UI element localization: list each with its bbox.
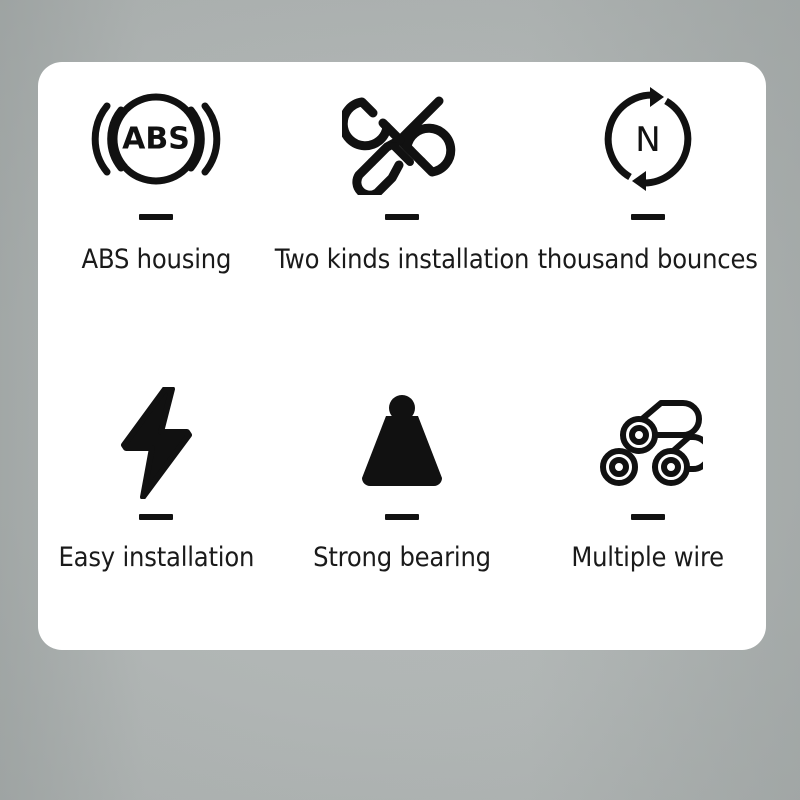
divider-dash: [385, 214, 419, 220]
divider-dash: [631, 214, 665, 220]
divider-dash: [139, 514, 173, 520]
feature-multiple-wire[interactable]: Multiple wire: [529, 356, 766, 650]
abs-icon-text: ABS: [123, 122, 191, 157]
feature-label: thousand bounces: [538, 246, 758, 273]
feature-label: Two kinds installation: [275, 246, 530, 273]
feature-grid: ABS ABS housing: [38, 62, 766, 650]
cycle-n-icon: N: [590, 74, 706, 204]
feature-easy-installation[interactable]: Easy installation: [38, 356, 275, 650]
feature-label: Multiple wire: [571, 544, 724, 571]
feature-abs-housing[interactable]: ABS ABS housing: [38, 62, 275, 356]
feature-label: Easy installation: [59, 544, 255, 571]
page-background: ABS ABS housing: [0, 0, 800, 800]
divider-dash: [385, 514, 419, 520]
stacked-wires-icon: [593, 378, 703, 508]
feature-thousand-bounces[interactable]: N thousand bounces: [529, 62, 766, 356]
feature-label: Strong bearing: [313, 544, 491, 571]
feature-strong-bearing[interactable]: Strong bearing: [275, 356, 530, 650]
feature-two-kinds-installation[interactable]: Two kinds installation: [275, 62, 530, 356]
lightning-bolt-icon: [110, 378, 202, 508]
wrench-screwdriver-icon: [342, 74, 462, 204]
cycle-icon-letter: N: [635, 120, 660, 160]
weight-icon: [350, 378, 454, 508]
feature-label: ABS housing: [82, 246, 232, 273]
abs-housing-icon: ABS: [88, 74, 224, 204]
feature-card: ABS ABS housing: [38, 62, 766, 650]
divider-dash: [139, 214, 173, 220]
divider-dash: [631, 514, 665, 520]
